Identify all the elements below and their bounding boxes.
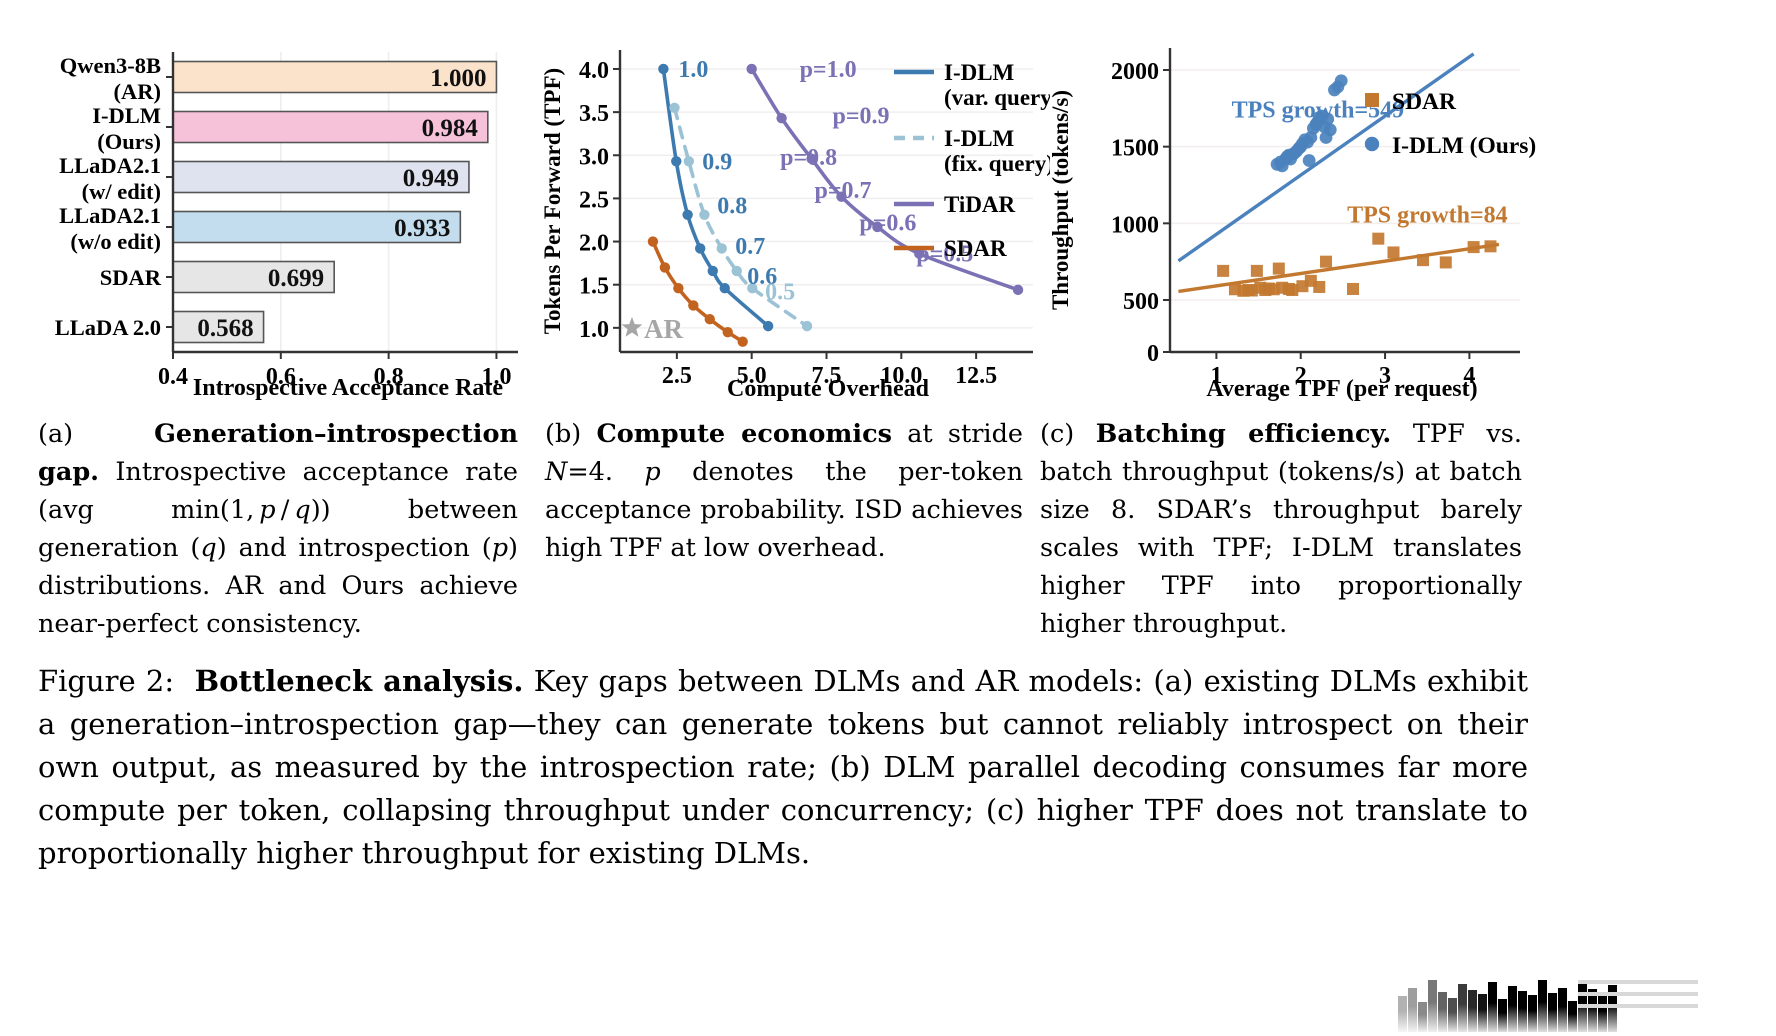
- panel-a-category-label: (w/ edit): [82, 179, 161, 204]
- legend-label: SDAR: [1392, 89, 1457, 115]
- smear-line: [1578, 992, 1698, 996]
- subcaption-b: (b) Compute economics at stride N=4. p d…: [545, 415, 1023, 567]
- smear-bar: [1518, 991, 1527, 1032]
- panel-b-ytick-label: 3.0: [579, 144, 609, 170]
- panel-a-bars: 1.0000.9840.9490.9330.6990.568: [166, 62, 496, 343]
- data-point: [684, 156, 694, 166]
- smear-line: [1578, 1004, 1698, 1008]
- legend-label: TiDAR: [944, 192, 1016, 217]
- data-point: [776, 113, 786, 123]
- panel-c-ytick-label: 1500: [1111, 136, 1159, 162]
- data-point: [1484, 240, 1496, 252]
- legend-swatch: [1365, 93, 1379, 107]
- data-point: [669, 103, 679, 113]
- data-point: [763, 321, 773, 331]
- figure-page: 1.0000.9840.9490.9330.6990.568 Qwen3-8B(…: [0, 0, 1776, 1036]
- smear-bar: [1478, 994, 1487, 1032]
- legend-swatch: [1365, 137, 1379, 151]
- data-point: [658, 64, 668, 74]
- panel-a-category-label: SDAR: [100, 265, 162, 290]
- data-point: [671, 156, 681, 166]
- panel-b-ytick-labels: 1.01.52.02.53.03.54.0: [579, 58, 609, 343]
- legend-label: (var. query): [944, 85, 1050, 110]
- series-group: [1178, 233, 1498, 297]
- panel-a-category-label: (Ours): [97, 129, 161, 154]
- panel-c-y-axis-label: Throughput (tokens/s): [1048, 90, 1073, 310]
- data-point: [708, 266, 718, 276]
- panel-a-category-label: LLaDA 2.0: [55, 315, 161, 340]
- panel-b-ytick-label: 1.0: [579, 317, 609, 343]
- bar-value-label: 0.933: [394, 215, 450, 242]
- panel-b-y-axis-label: Tokens Per Forward (TPF): [540, 68, 565, 334]
- legend-label: I-DLM: [944, 60, 1015, 85]
- smear-bar: [1468, 990, 1477, 1032]
- data-point: [1313, 281, 1325, 293]
- legend-label: (fix. query): [944, 151, 1050, 176]
- smear-bar: [1508, 986, 1517, 1032]
- panel-c-scatter-chart: TPS growth=549TPS growth=84 SDARI-DLM (O…: [1042, 0, 1542, 410]
- panel-a-category-labels: Qwen3-8B(AR)I-DLM(Ours)LLaDA2.1(w/ edit)…: [55, 53, 162, 340]
- data-point: [1372, 233, 1384, 245]
- panel-b-xtick-label: 12.5: [955, 363, 997, 389]
- smear-bar: [1418, 1002, 1427, 1032]
- bar-value-label: 0.699: [268, 265, 324, 292]
- smear-bar: [1598, 996, 1607, 1032]
- panel-b-annotation: 1.0: [678, 57, 708, 83]
- data-point: [1387, 246, 1399, 258]
- panel-b-legend: I-DLM(var. query)I-DLM(fix. query)TiDARS…: [894, 60, 1050, 261]
- panel-b-annotation: p=0.6: [859, 211, 916, 237]
- data-point: [717, 243, 727, 253]
- data-point: [1468, 241, 1480, 253]
- panel-b-svg: AR1.00.90.80.70.60.5p=1.0p=0.9p=0.8p=0.7…: [538, 0, 1050, 410]
- smear-bar: [1568, 1001, 1577, 1032]
- data-point: [720, 283, 730, 293]
- panel-c-ytick-label: 1000: [1111, 212, 1159, 238]
- panel-b-ytick-label: 2.5: [579, 187, 609, 213]
- smear-bar: [1528, 995, 1537, 1032]
- panel-b-annotation: 0.5: [765, 280, 795, 306]
- data-point: [746, 64, 756, 74]
- data-point: [1440, 256, 1452, 268]
- figure-caption: Figure 2: Bottleneck analysis. Key gaps …: [38, 660, 1528, 875]
- panel-a-svg: 1.0000.9840.9490.9330.6990.568 Qwen3-8B(…: [18, 0, 538, 410]
- panel-a-category-label: (w/o edit): [70, 229, 161, 254]
- panel-a-category-label: I-DLM: [92, 103, 161, 128]
- smear-bar: [1498, 999, 1507, 1032]
- data-point: [695, 243, 705, 253]
- data-point: [723, 327, 733, 337]
- smear-bar: [1558, 988, 1567, 1032]
- subcaption-a: (a) Generation–introspection gap. Intros…: [38, 415, 518, 643]
- panel-b-ytick-label: 1.5: [579, 274, 609, 300]
- panels-row: 1.0000.9840.9490.9330.6990.568 Qwen3-8B(…: [0, 0, 1776, 410]
- panel-a-category-label: LLaDA2.1: [59, 203, 161, 228]
- panel-b-annotations: AR1.00.90.80.70.60.5p=1.0p=0.9p=0.8p=0.7…: [622, 57, 974, 344]
- data-point: [1335, 74, 1348, 87]
- render-artifact-smear: [1398, 966, 1698, 1032]
- panel-b-annotation: 0.9: [702, 149, 732, 175]
- smear-line: [1578, 980, 1698, 984]
- panel-b-annotation: p=0.9: [832, 104, 889, 130]
- subcaptions-row: (a) Generation–introspection gap. Intros…: [0, 415, 1776, 645]
- panel-a-bar-chart: 1.0000.9840.9490.9330.6990.568 Qwen3-8B(…: [18, 0, 538, 410]
- smear-bar: [1408, 988, 1417, 1032]
- panel-a-category-label: LLaDA2.1: [59, 153, 161, 178]
- panel-c-x-axis-label: Average TPF (per request): [1206, 376, 1477, 402]
- data-point: [1251, 265, 1263, 277]
- panel-b-annotation: 0.7: [735, 234, 765, 260]
- smear-bar: [1398, 996, 1407, 1032]
- panel-b-annotation: p=0.8: [780, 145, 837, 171]
- panel-c-svg: TPS growth=549TPS growth=84 SDARI-DLM (O…: [1042, 0, 1542, 410]
- panel-b-ytick-label: 3.5: [579, 101, 609, 127]
- legend-label: I-DLM (Ours): [1392, 133, 1536, 159]
- data-point: [1303, 154, 1316, 167]
- panel-c-ytick-label: 2000: [1111, 59, 1159, 85]
- data-point: [682, 210, 692, 220]
- data-point: [1320, 131, 1333, 144]
- panel-b-line-chart: AR1.00.90.80.70.60.5p=1.0p=0.9p=0.8p=0.7…: [538, 0, 1050, 410]
- panel-a-category-label: Qwen3-8B: [60, 53, 161, 78]
- data-point: [1273, 263, 1285, 275]
- smear-bar: [1608, 985, 1617, 1032]
- smear-bar: [1438, 992, 1447, 1032]
- data-point: [802, 321, 812, 331]
- bar-value-label: 1.000: [430, 65, 486, 92]
- panel-b-annotation: AR: [644, 314, 683, 344]
- smear-bar: [1488, 982, 1497, 1032]
- panel-c-ytick-label: 0: [1147, 341, 1159, 367]
- data-point: [1320, 256, 1332, 268]
- panel-b-annotation: p=0.7: [815, 178, 872, 204]
- panel-b-annotation: p=1.0: [800, 57, 857, 83]
- legend-label: I-DLM: [944, 126, 1015, 151]
- data-point: [1417, 254, 1429, 266]
- bar-value-label: 0.984: [422, 115, 479, 142]
- panel-a-x-axis-label: Introspective Acceptance Rate: [193, 375, 503, 401]
- data-point: [699, 210, 709, 220]
- smear-bar: [1578, 983, 1587, 1032]
- subcaption-c: (c) Batching efficiency. TPF vs. batch t…: [1040, 415, 1522, 643]
- smear-bar: [1448, 998, 1457, 1032]
- data-point: [673, 283, 683, 293]
- smear-bar: [1538, 980, 1547, 1032]
- panel-c-ytick-label: 500: [1123, 289, 1159, 315]
- panel-b-ytick-label: 4.0: [579, 58, 609, 84]
- bar-value-label: 0.568: [197, 315, 253, 342]
- data-point: [688, 300, 698, 310]
- panel-b-ytick-label: 2.0: [579, 231, 609, 257]
- panel-b-x-axis-label: Compute Overhead: [727, 376, 930, 402]
- panel-a-category-label: (AR): [114, 79, 161, 104]
- panel-c-ytick-labels: 0500100015002000: [1111, 59, 1159, 367]
- panel-a-xtick-label: 0.4: [158, 364, 188, 390]
- smear-bar: [1588, 989, 1597, 1032]
- data-point: [705, 314, 715, 324]
- data-point: [1013, 285, 1023, 295]
- data-point: [732, 266, 742, 276]
- data-point: [660, 262, 670, 272]
- panel-b-annotation: 0.8: [717, 193, 747, 219]
- data-point: [1259, 284, 1271, 296]
- data-point: [648, 236, 658, 246]
- data-point: [738, 336, 748, 346]
- data-point: [1217, 265, 1229, 277]
- panel-b-xtick-label: 2.5: [662, 363, 692, 389]
- smear-bar: [1458, 984, 1467, 1032]
- panel-c-annotation: TPS growth=84: [1347, 203, 1508, 229]
- legend-label: SDAR: [944, 236, 1007, 261]
- bar-value-label: 0.949: [403, 165, 459, 192]
- data-point: [1283, 283, 1295, 295]
- smear-bar: [1428, 980, 1437, 1032]
- smear-bar: [1548, 993, 1557, 1032]
- data-point: [1347, 283, 1359, 295]
- ar-star-icon: [622, 317, 643, 337]
